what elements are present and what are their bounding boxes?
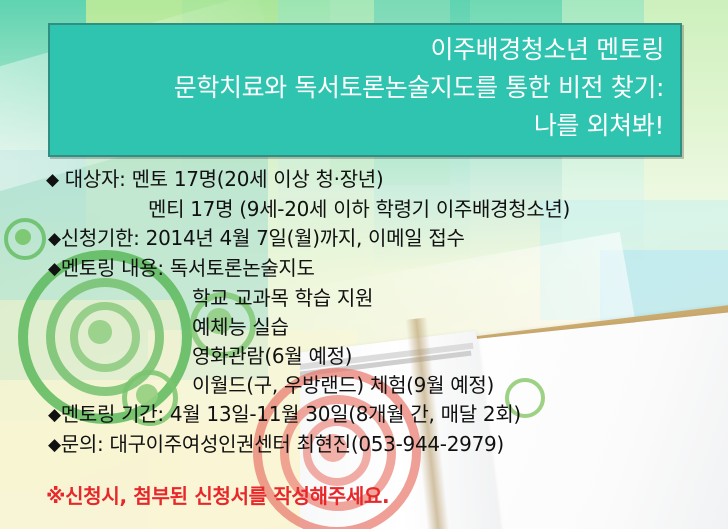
body-line-text: 멘토링 내용: 독서토론논술지도: [61, 256, 315, 280]
title-box: 이주배경청소년 멘토링 문학치료와 독서토론논술지도를 통한 비전 찾기: 나를…: [48, 23, 682, 157]
body-line: 학교 교과목 학습 지원: [0, 284, 728, 313]
note-line: ※신청시, 첨부된 신청서를 작성해주세요.: [0, 482, 728, 510]
diamond-bullet-icon: ◆: [48, 401, 61, 430]
diamond-bullet-icon: ◆: [46, 166, 59, 195]
body-line-text: 이월드(구, 우방랜드) 체험(9월 예정): [192, 373, 494, 397]
diamond-bullet-icon: ◆: [48, 255, 61, 284]
body-line: ◆대상자: 멘토 17명(20세 이상 청·장년): [0, 165, 728, 195]
diamond-bullet-icon: ◆: [48, 431, 61, 460]
body-line: 멘티 17명 (9세-20세 이하 학령기 이주배경청소년): [0, 195, 728, 224]
body-line: ◆멘토링 기간: 4월 13일-11월 30일(8개월 간, 매달 2회): [0, 400, 728, 430]
body-line-text: 대상자: 멘토 17명(20세 이상 청·장년): [65, 167, 384, 191]
body-line-text: 멘티 17명 (9세-20세 이하 학령기 이주배경청소년): [148, 197, 570, 221]
title-line-2: 문학치료와 독서토론논술지도를 통한 비전 찾기:: [50, 69, 664, 107]
body-line: ◆멘토링 내용: 독서토론논술지도: [0, 254, 728, 284]
body-line: 영화관람(6월 예정): [0, 342, 728, 371]
body-line-text: 학교 교과목 학습 지원: [192, 286, 373, 310]
poster-canvas: 이주배경청소년 멘토링 문학치료와 독서토론논술지도를 통한 비전 찾기: 나를…: [0, 0, 728, 529]
body-line: ◆문의: 대구이주여성인권센터 최현진(053-944-2979): [0, 430, 728, 460]
title-line-1: 이주배경청소년 멘토링: [50, 31, 664, 69]
body-text-block: ◆대상자: 멘토 17명(20세 이상 청·장년)멘티 17명 (9세-20세 …: [0, 165, 728, 510]
title-line-3: 나를 외쳐봐!: [50, 107, 664, 145]
body-line-text: 영화관람(6월 예정): [192, 344, 352, 368]
body-line-text: 예체능 실습: [192, 315, 289, 339]
body-line-text: 문의: 대구이주여성인권센터 최현진(053-944-2979): [61, 432, 504, 456]
body-line: ◆신청기한: 2014년 4월 7일(월)까지, 이메일 접수: [0, 224, 728, 254]
body-line-text: 멘토링 기간: 4월 13일-11월 30일(8개월 간, 매달 2회): [61, 402, 521, 426]
diamond-bullet-icon: ◆: [48, 225, 61, 254]
body-line-text: 신청기한: 2014년 4월 7일(월)까지, 이메일 접수: [61, 226, 465, 250]
title-text-group: 이주배경청소년 멘토링 문학치료와 독서토론논술지도를 통한 비전 찾기: 나를…: [50, 31, 664, 145]
body-line: 예체능 실습: [0, 313, 728, 342]
body-line: 이월드(구, 우방랜드) 체험(9월 예정): [0, 371, 728, 400]
